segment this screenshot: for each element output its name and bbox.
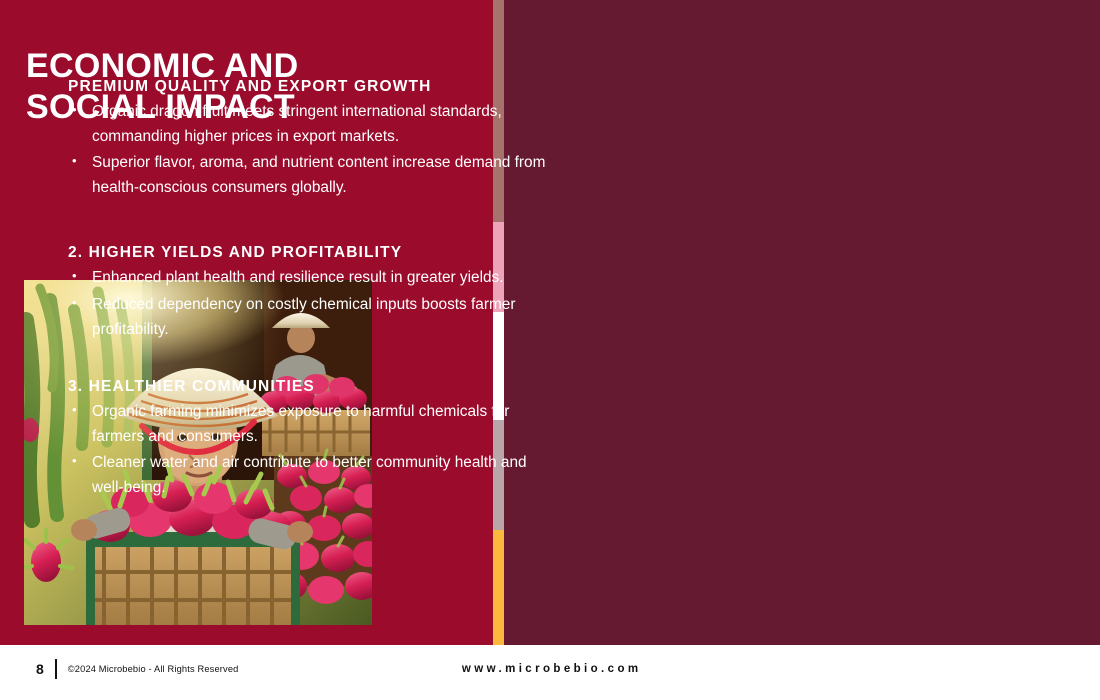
slide-canvas: ECONOMIC AND SOCIAL IMPACT [0,0,1100,700]
bullet-item: • Organic farming minimizes exposure to … [68,399,562,449]
bullet-list: • Organic dragon fruit meets stringent i… [68,99,562,200]
block-spacer [68,368,562,378]
bullet-dot-icon: • [72,99,77,120]
right-panel [504,0,1100,645]
block-spacer [68,226,562,244]
bullet-text: Enhanced plant health and resilience res… [92,269,504,286]
bullet-text: Cleaner water and air contribute to bett… [92,454,527,496]
block-heading: PREMIUM QUALITY AND EXPORT GROWTH [68,78,562,96]
bullet-text: Superior flavor, aroma, and nutrient con… [92,154,545,196]
content-block: 3. HEALTHIER COMMUNITIES • Organic farmi… [68,378,562,500]
bullet-dot-icon: • [72,150,77,171]
bullet-dot-icon: • [72,265,77,286]
website-url[interactable]: www.microbebio.com [0,663,1100,675]
bullet-item: • Superior flavor, aroma, and nutrient c… [68,150,562,200]
content-block: 2. HIGHER YIELDS AND PROFITABILITY • Enh… [68,244,562,341]
content-column: PREMIUM QUALITY AND EXPORT GROWTH • Orga… [68,78,562,501]
block-heading: 2. HIGHER YIELDS AND PROFITABILITY [68,244,562,262]
block-heading: 3. HEALTHIER COMMUNITIES [68,378,562,396]
bullet-dot-icon: • [72,292,77,313]
bullet-text: Organic dragon fruit meets stringent int… [92,103,502,145]
bullet-list: • Enhanced plant health and resilience r… [68,265,562,341]
bullet-list: • Organic farming minimizes exposure to … [68,399,562,500]
content-block: PREMIUM QUALITY AND EXPORT GROWTH • Orga… [68,78,562,200]
bullet-text: Reduced dependency on costly chemical in… [92,296,515,338]
bullet-text: Organic farming minimizes exposure to ha… [92,403,509,445]
accent-segment-amber [493,530,504,645]
bullet-item: • Organic dragon fruit meets stringent i… [68,99,562,149]
bullet-item: • Enhanced plant health and resilience r… [68,265,562,290]
footer: 8 ©2024 Microbebio - All Rights Reserved… [0,645,1100,700]
bullet-dot-icon: • [72,399,77,420]
bullet-item: • Cleaner water and air contribute to be… [68,450,562,500]
bullet-dot-icon: • [72,450,77,471]
bullet-item: • Reduced dependency on costly chemical … [68,292,562,342]
